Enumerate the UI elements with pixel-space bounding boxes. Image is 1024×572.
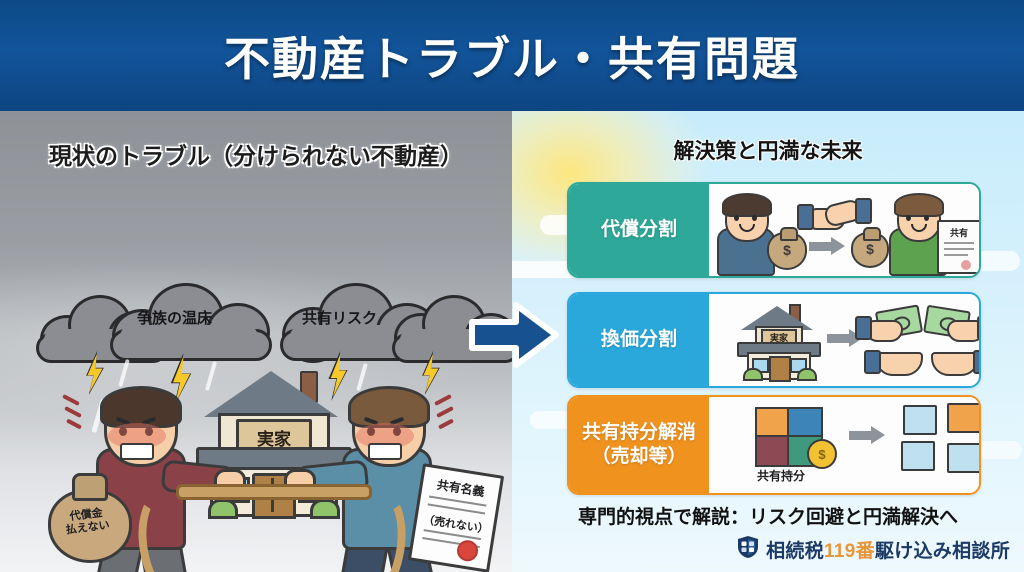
card1-cuff-right [855,198,872,224]
card1-doc-rule-2 [944,248,974,250]
card2-bush-left [743,368,763,381]
left-panel-title: 現状のトラブル（分けられない不動産） [0,137,512,171]
red-seal-stamp [456,539,480,563]
brand-suffix: 駆け込み相談所 [875,541,1010,562]
joint-ownership-document: 共有名義 （売れない） [408,463,504,572]
bush-right [310,499,340,519]
footer-tagline: 専門的視点で解説：リスク回避と円満解決へ [512,502,1024,529]
document-subtitle: （売れない） [422,511,488,537]
left-person-mouth [120,443,154,460]
card-2-label: 換価分割 [569,294,709,386]
card1-bag-symbol-right: $ [853,241,887,257]
card2-bush-right [797,368,817,381]
card1-man-right-eye-l [906,215,911,221]
card-2-illustration: 実家 [709,294,979,386]
shield-icon [737,535,759,564]
card-3-illustration: $ 共有持分 [709,397,979,493]
card1-man-left-eye-l [734,215,739,221]
card3-coin: $ [807,439,837,469]
left-person-anger-mark [62,396,88,430]
card2-cuff-top-left [855,316,872,340]
card3-puzzle-bl [755,435,791,467]
money-bag-neck [72,473,108,501]
card3-split-piece-br [947,443,981,473]
page-title: 不動産トラブル・共有問題 [224,23,800,89]
card1-cuff-left [797,204,814,230]
house-roof [204,371,338,417]
card-3-label: 共有持分解消 （売却等） [569,397,709,493]
card1-arrow-head [831,237,845,255]
card2-receiving-hand-right [931,352,979,376]
right-panel-title: 解決策と円満な未来 [512,135,1024,165]
card2-arrow-stem [827,334,849,343]
right-person-mouth [368,443,402,460]
brand-name: 相続税119番駆け込み相談所 [766,536,1010,563]
card3-split-piece-tl [903,405,937,435]
card1-bag-symbol-left: $ [769,242,805,258]
card3-split-piece-bl [901,441,935,471]
card1-doc-seal [961,260,971,270]
card2-cuff-top-right [977,316,981,340]
right-solution-panel: 解決策と円満な未来 代償分割 $ [512,111,1024,572]
cloud-label-1: 争族の温床 [137,307,212,328]
card-3-label-line2: （売却等） [591,445,686,469]
bush-left [208,499,238,519]
card3-arrow-head [871,426,885,444]
solution-card-kanka-bunkatsu[interactable]: 換価分割 実家 [567,292,981,388]
card3-split-piece-tr [947,403,981,433]
card1-doc-rule-1 [944,242,974,244]
card2-cuff-bottom-left [864,350,881,374]
solution-card-kyoyu-mochibun[interactable]: 共有持分解消 （売却等） $ 共有持分 [567,395,981,495]
left-problem-panel: 現状のトラブル（分けられない不動産） 争族の温床 共有リスク [0,111,512,572]
card1-doc-rule-3 [944,254,968,256]
card-1-label: 代償分割 [569,184,709,276]
card1-money-bag-right: $ [851,232,889,268]
card3-arrow-stem [849,431,871,440]
card1-arrow-stem [809,242,831,251]
brand-number: 119番 [824,541,875,562]
brand-logo[interactable]: 相続税119番駆け込み相談所 [737,535,1010,564]
transition-arrow [468,300,560,370]
card-3-label-line1: 共有持分解消 [582,421,696,445]
solution-card-daisho-bunkatsu[interactable]: 代償分割 $ $ [567,182,981,278]
tug-of-war-rope [176,484,372,500]
card2-cuff-bottom-right [973,350,981,374]
card1-agreement-document: 共有 [937,220,981,274]
right-person-anger-mark [434,396,460,430]
card-1-illustration: $ $ [709,184,979,276]
cloud-label-2: 共有リスク [302,307,377,328]
card2-receiving-hand-left [875,352,923,376]
card2-house-door [769,356,791,382]
card2-giving-hand-right [947,320,981,342]
card1-man-left-eye-r [752,215,757,221]
card1-man-right-eye-r [924,215,929,221]
header-banner: 不動産トラブル・共有問題 [0,0,1024,111]
infographic-root: 不動産トラブル・共有問題 現状のトラブル（分けられない不動産） 争族の温床 [0,0,1024,572]
money-bag-unpayable: 代償金 払えない [48,471,126,557]
card1-doc-label: 共有 [939,226,979,239]
brand-prefix: 相続税 [766,541,824,562]
card2-house: 実家 [741,298,817,382]
card1-man-right-hair [894,193,944,217]
card3-caption: 共有持分 [757,467,805,484]
card1-man-left-hair [722,193,772,217]
card1-money-bag-left: $ [767,232,807,270]
